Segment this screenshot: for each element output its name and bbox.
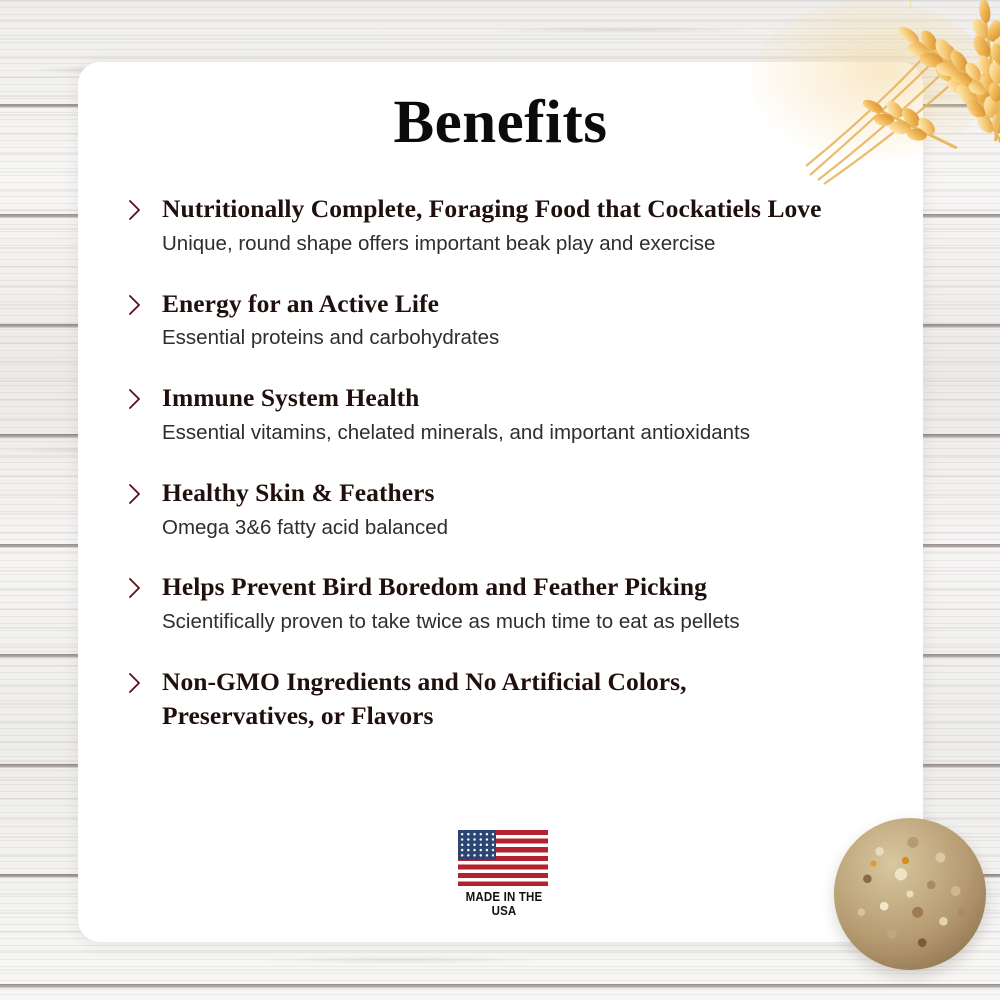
flag-stars <box>460 832 494 858</box>
list-item: Nutritionally Complete, Foraging Food th… <box>125 192 903 258</box>
benefit-subtitle: Omega 3&6 fatty acid balanced <box>162 515 903 542</box>
made-in-usa-badge: MADE IN THE USA <box>458 830 550 918</box>
benefit-title: Energy for an Active Life <box>162 287 903 321</box>
list-item: Non-GMO Ingredients and No Artificial Co… <box>125 665 903 733</box>
benefit-subtitle: Essential vitamins, chelated minerals, a… <box>162 420 903 447</box>
flag-canton <box>458 830 496 860</box>
benefits-list: Nutritionally Complete, Foraging Food th… <box>125 192 903 738</box>
chevron-right-icon <box>127 483 143 503</box>
page-title: Benefits <box>78 92 923 153</box>
usa-flag-icon <box>458 830 548 886</box>
chevron-right-icon <box>127 199 143 219</box>
benefit-subtitle: Scientifically proven to take twice as m… <box>162 609 903 636</box>
benefit-title: Immune System Health <box>162 381 903 415</box>
list-item: Helps Prevent Bird Boredom and Feather P… <box>125 570 903 636</box>
list-item: Energy for an Active Life Essential prot… <box>125 287 903 353</box>
benefit-subtitle: Essential proteins and carbohydrates <box>162 325 903 352</box>
made-in-usa-label: MADE IN THE USA <box>462 890 547 918</box>
list-item: Healthy Skin & Feathers Omega 3&6 fatty … <box>125 476 903 542</box>
benefit-title: Non-GMO Ingredients and No Artificial Co… <box>162 665 762 733</box>
benefit-title: Nutritionally Complete, Foraging Food th… <box>162 192 903 226</box>
benefit-title: Healthy Skin & Feathers <box>162 476 903 510</box>
benefit-subtitle: Unique, round shape offers important bea… <box>162 231 903 258</box>
chevron-right-icon <box>127 672 143 692</box>
benefit-title: Helps Prevent Bird Boredom and Feather P… <box>162 570 903 604</box>
chevron-right-icon <box>127 294 143 314</box>
chevron-right-icon <box>127 388 143 408</box>
product-benefits-infographic: Benefits Nutritionally Complete, Foragin… <box>0 0 1000 1000</box>
benefits-card: Benefits Nutritionally Complete, Foragin… <box>78 62 923 942</box>
chevron-right-icon <box>127 577 143 597</box>
list-item: Immune System Health Essential vitamins,… <box>125 381 903 447</box>
